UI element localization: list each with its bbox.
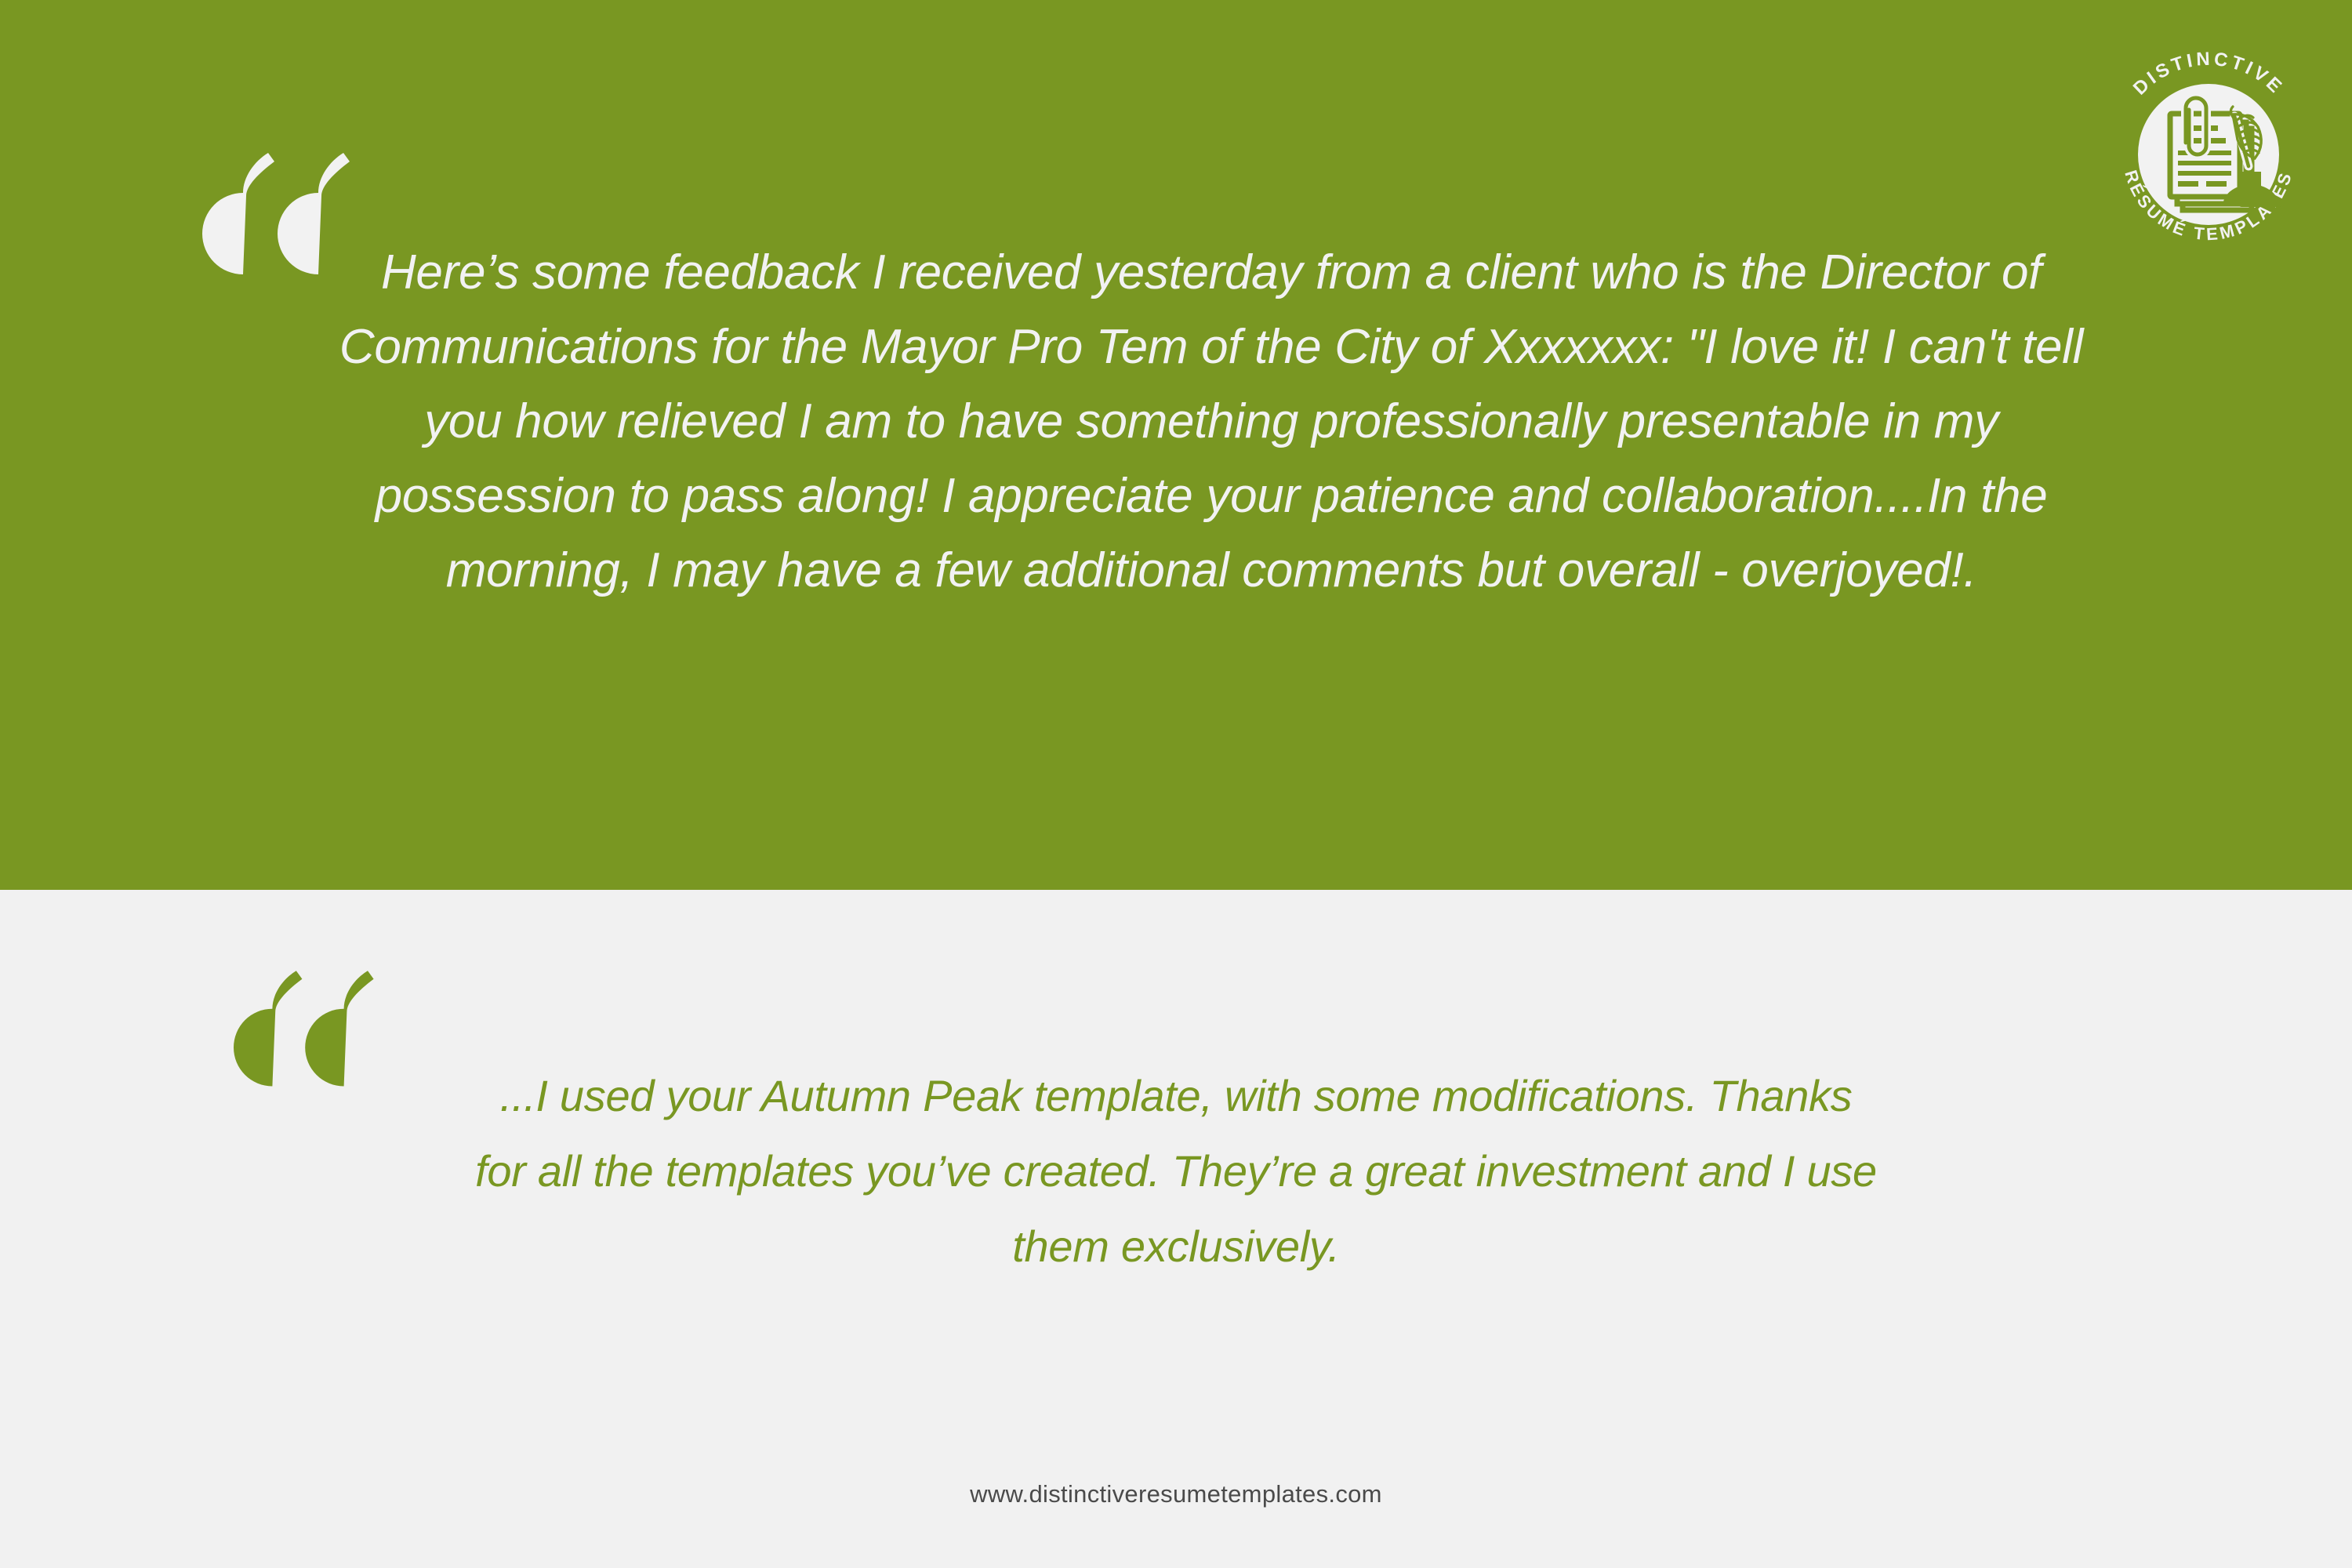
brand-logo: DISTINCTIVE RÉSUMÉ TEMPLATES xyxy=(2095,41,2322,268)
quote-mark-icon-top xyxy=(202,149,359,274)
testimonial-primary-text: Here’s some feedback I received yesterda… xyxy=(337,235,2085,608)
footer-website-url[interactable]: www.distinctiveresumetemplates.com xyxy=(0,1480,2352,1508)
testimonial-card: DISTINCTIVE RÉSUMÉ TEMPLATES xyxy=(0,0,2352,1568)
quote-mark-icon-bottom xyxy=(234,966,383,1087)
testimonial-secondary-text: ...I used your Autumn Peak template, wit… xyxy=(470,1058,1882,1284)
